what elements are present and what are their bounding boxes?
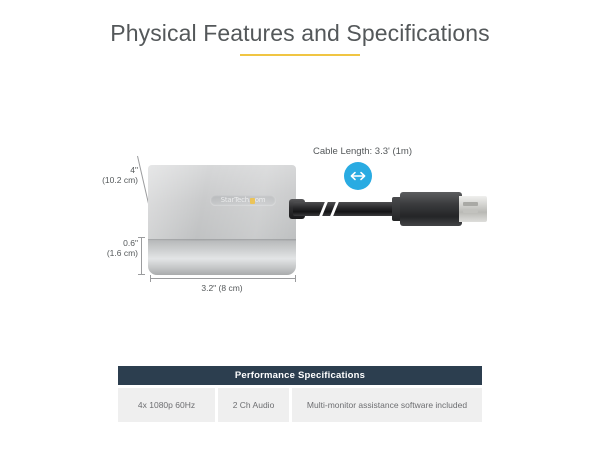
dimension-width: 3.2" (8 cm) [148, 283, 296, 293]
page-title: Physical Features and Specifications [0, 20, 600, 47]
usb-a-connector-housing [400, 192, 462, 226]
spec-cell-resolution: 4x 1080p 60Hz [118, 388, 215, 422]
cable-length-label: Cable Length: 3.3' (1m) [313, 146, 412, 157]
performance-specifications-table: Performance Specifications 4x 1080p 60Hz… [118, 366, 482, 422]
dimension-depth-metric: (1.6 cm) [96, 248, 138, 258]
brand-logo-accent-icon [250, 198, 255, 204]
brand-logo-text: StarTech.com [210, 195, 276, 206]
spec-table-row: 4x 1080p 60Hz 2 Ch Audio Multi-monitor a… [118, 388, 482, 422]
adapter-front-face [148, 241, 296, 275]
depth-leader-line [141, 237, 142, 275]
adapter-device: StarTech.com [148, 165, 296, 275]
spec-table-header: Performance Specifications [118, 366, 482, 385]
spec-cell-audio: 2 Ch Audio [218, 388, 289, 422]
brand-logo: StarTech.com [210, 195, 276, 206]
dimension-depth-imperial: 0.6" [96, 238, 138, 248]
dimension-height-metric: (10.2 cm) [96, 175, 138, 185]
dimension-height-imperial: 4" [96, 165, 138, 175]
width-leader-line [150, 278, 296, 279]
dimension-depth: 0.6" (1.6 cm) [96, 238, 138, 258]
product-spec-page: { "page": { "title": "Physical Features … [0, 0, 600, 450]
adapter-top-face: StarTech.com [148, 165, 296, 243]
dimension-height: 4" (10.2 cm) [96, 165, 138, 185]
usb-a-connector-metal-tip [459, 196, 487, 222]
cable-length-badge [344, 162, 372, 190]
title-underline-accent [240, 54, 360, 56]
spec-cell-software: Multi-monitor assistance software includ… [292, 388, 482, 422]
cable-break-symbol-icon [316, 192, 346, 226]
double-arrow-icon [344, 162, 372, 190]
product-illustration: 4" (10.2 cm) 0.6" (1.6 cm) 3.2" (8 cm) S… [0, 120, 600, 320]
